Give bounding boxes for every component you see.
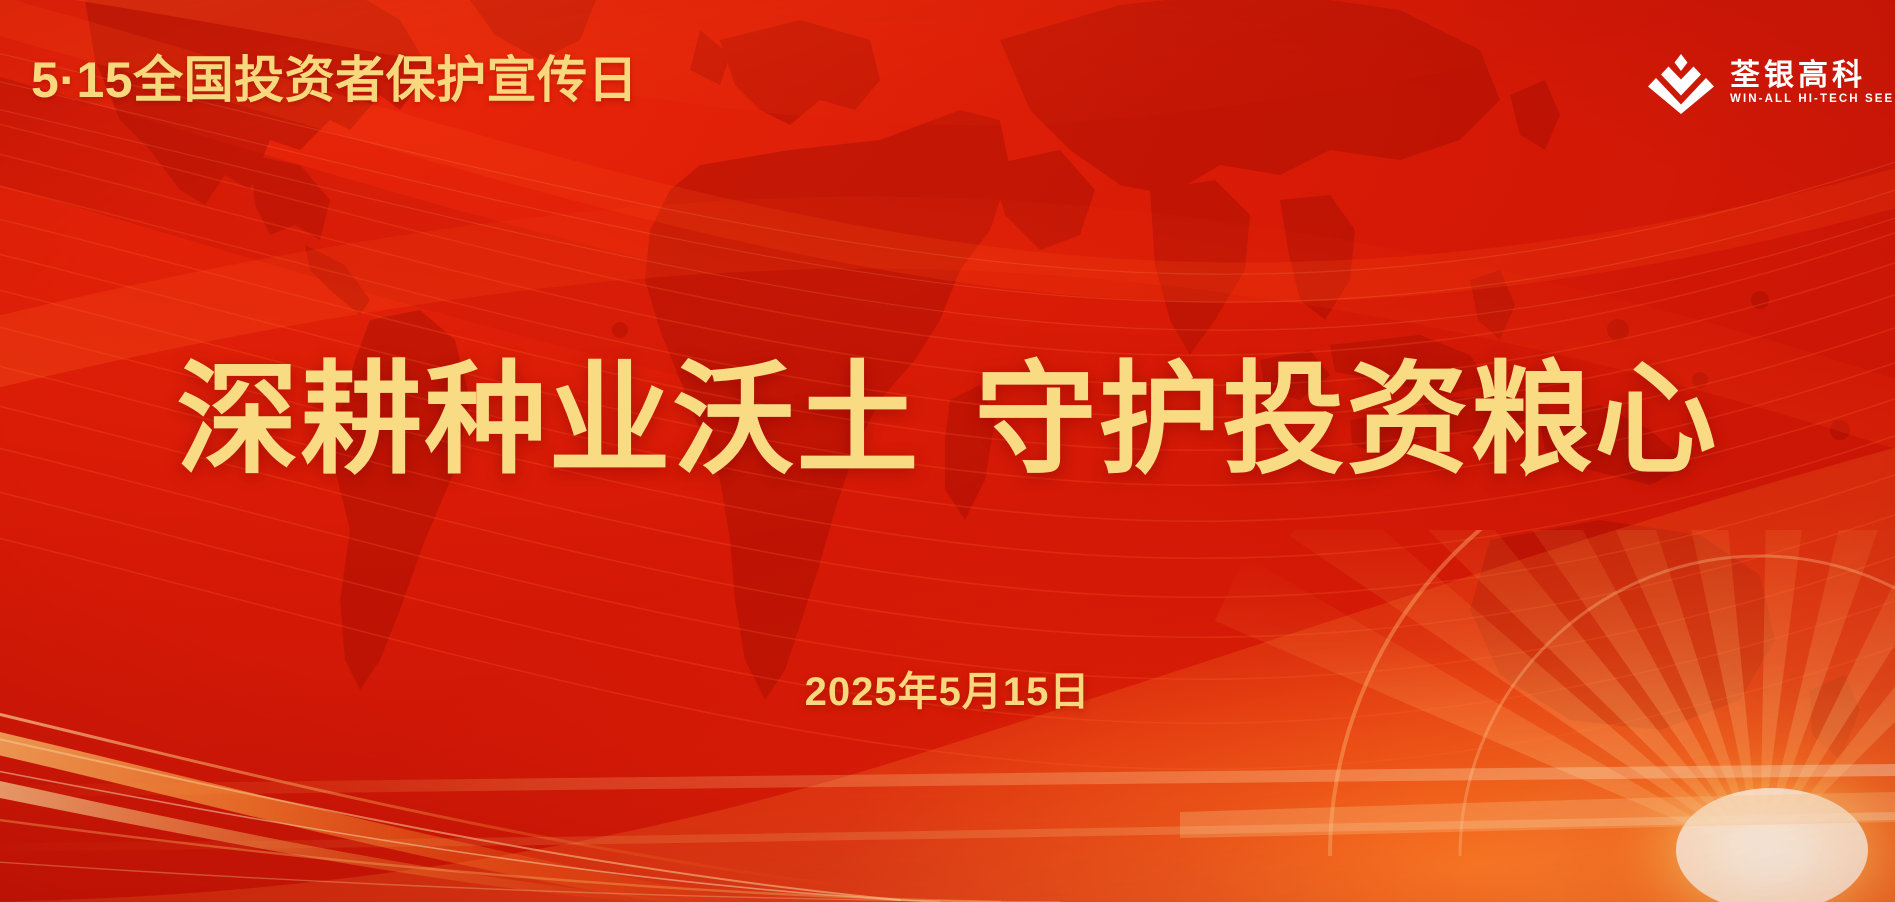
event-date: 2025年5月15日 (0, 659, 1895, 717)
company-name-en: WIN-ALL HI-TECH SEED (1730, 94, 1895, 106)
headline-phrase-left: 深耕种业沃土 (177, 352, 921, 488)
campaign-eyebrow-title: 5·15全国投资者保护宣传日 (31, 55, 638, 105)
banner-content: 5·15全国投资者保护宣传日 深耕种业沃土守护投资粮心 2025年5月15日 荃… (0, 0, 1895, 902)
logo-wordmark: 荃银高科 WIN-ALL HI-TECH SEED (1730, 61, 1895, 106)
company-name-cn: 荃银高科 (1730, 61, 1895, 91)
company-logo[interactable]: 荃银高科 WIN-ALL HI-TECH SEED (1648, 52, 1895, 114)
banner-canvas: 5·15全国投资者保护宣传日 深耕种业沃土守护投资粮心 2025年5月15日 荃… (0, 0, 1895, 902)
win-all-chevron-logo-icon (1648, 52, 1714, 114)
page-title: 深耕种业沃土守护投资粮心 (0, 355, 1895, 487)
headline-phrase-right: 守护投资粮心 (975, 352, 1719, 488)
